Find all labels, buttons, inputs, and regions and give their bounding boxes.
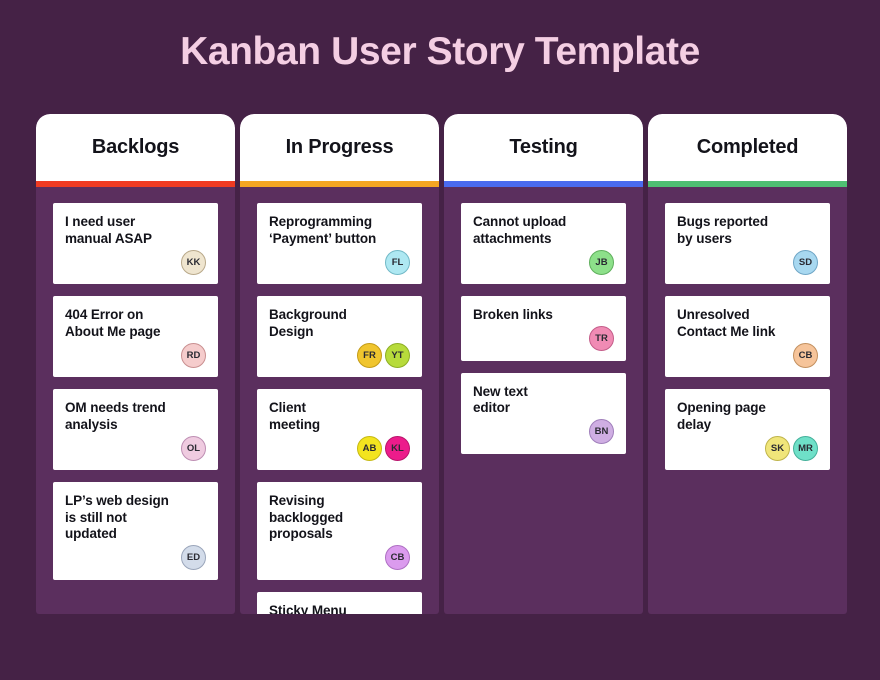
avatar[interactable]: FL — [385, 250, 410, 275]
task-card-assignees: RD — [65, 342, 206, 368]
column-title: In Progress — [286, 136, 394, 159]
task-card[interactable]: Cannot upload attachmentsJB — [461, 203, 626, 284]
kanban-column-backlogs: BacklogsI need user manual ASAPKK404 Err… — [36, 114, 235, 614]
task-card[interactable]: Background DesignFRYT — [257, 296, 422, 377]
task-card[interactable]: 404 Error on About Me pageRD — [53, 296, 218, 377]
task-card[interactable]: Opening page delaySKMR — [665, 389, 830, 470]
column-title: Completed — [697, 136, 799, 159]
avatar[interactable]: YT — [385, 343, 410, 368]
task-card-assignees: KK — [65, 249, 206, 275]
task-card-assignees: SD — [677, 249, 818, 275]
avatar[interactable]: MR — [793, 436, 818, 461]
column-header-completed[interactable]: Completed — [648, 114, 847, 181]
task-card-title: OM needs trend analysis — [65, 400, 206, 433]
avatar[interactable]: SK — [765, 436, 790, 461]
task-card-assignees: FL — [269, 249, 410, 275]
avatar[interactable]: ED — [181, 545, 206, 570]
task-card-title: Cannot upload attachments — [473, 214, 614, 247]
task-card-title: 404 Error on About Me page — [65, 307, 206, 340]
task-card[interactable]: Sticky Menu buttonPW — [257, 592, 422, 615]
task-card-assignees: CB — [677, 342, 818, 368]
task-card-assignees: OL — [65, 435, 206, 461]
task-card-title: Reprogramming ‘Payment’ button — [269, 214, 410, 247]
task-card[interactable]: Unresolved Contact Me linkCB — [665, 296, 830, 377]
task-card[interactable]: New text editorBN — [461, 373, 626, 454]
task-card-assignees: ABKL — [269, 435, 410, 461]
avatar[interactable]: FR — [357, 343, 382, 368]
task-card-assignees: FRYT — [269, 342, 410, 368]
task-card-title: Broken links — [473, 307, 614, 324]
avatar[interactable]: OL — [181, 436, 206, 461]
kanban-board: BacklogsI need user manual ASAPKK404 Err… — [36, 114, 848, 614]
task-card-title: LP’s web design is still not updated — [65, 493, 206, 543]
task-card-assignees: JB — [473, 249, 614, 275]
avatar[interactable]: CB — [385, 545, 410, 570]
task-card-title: Unresolved Contact Me link — [677, 307, 818, 340]
task-card-title: New text editor — [473, 384, 614, 417]
avatar[interactable]: TR — [589, 326, 614, 351]
task-card[interactable]: LP’s web design is still not updatedED — [53, 482, 218, 580]
column-title: Testing — [509, 136, 577, 159]
column-card-list-backlogs: I need user manual ASAPKK404 Error on Ab… — [36, 187, 235, 614]
task-card-assignees: CB — [269, 545, 410, 571]
task-card[interactable]: I need user manual ASAPKK — [53, 203, 218, 284]
task-card-title: I need user manual ASAP — [65, 214, 206, 247]
avatar[interactable]: RD — [181, 343, 206, 368]
task-card[interactable]: Bugs reported by usersSD — [665, 203, 830, 284]
task-card-title: Background Design — [269, 307, 410, 340]
avatar[interactable]: BN — [589, 419, 614, 444]
column-card-list-in-progress: Reprogramming ‘Payment’ buttonFLBackgrou… — [240, 187, 439, 614]
task-card-assignees: TR — [473, 326, 614, 352]
kanban-column-completed: CompletedBugs reported by usersSDUnresol… — [648, 114, 847, 614]
task-card[interactable]: Broken linksTR — [461, 296, 626, 361]
task-card[interactable]: OM needs trend analysisOL — [53, 389, 218, 470]
column-header-testing[interactable]: Testing — [444, 114, 643, 181]
avatar[interactable]: KK — [181, 250, 206, 275]
task-card-assignees: ED — [65, 545, 206, 571]
avatar[interactable]: JB — [589, 250, 614, 275]
task-card[interactable]: Reprogramming ‘Payment’ buttonFL — [257, 203, 422, 284]
column-card-list-completed: Bugs reported by usersSDUnresolved Conta… — [648, 187, 847, 614]
task-card-title: Revising backlogged proposals — [269, 493, 410, 543]
avatar[interactable]: CB — [793, 343, 818, 368]
column-header-in-progress[interactable]: In Progress — [240, 114, 439, 181]
avatar[interactable]: SD — [793, 250, 818, 275]
task-card[interactable]: Client meetingABKL — [257, 389, 422, 470]
task-card-title: Bugs reported by users — [677, 214, 818, 247]
task-card-title: Sticky Menu button — [269, 603, 410, 615]
avatar[interactable]: AB — [357, 436, 382, 461]
task-card-title: Client meeting — [269, 400, 410, 433]
task-card-title: Opening page delay — [677, 400, 818, 433]
column-header-backlogs[interactable]: Backlogs — [36, 114, 235, 181]
task-card[interactable]: Revising backlogged proposalsCB — [257, 482, 422, 580]
avatar[interactable]: KL — [385, 436, 410, 461]
kanban-column-in-progress: In ProgressReprogramming ‘Payment’ butto… — [240, 114, 439, 614]
task-card-assignees: BN — [473, 419, 614, 445]
column-card-list-testing: Cannot upload attachmentsJBBroken linksT… — [444, 187, 643, 614]
kanban-column-testing: TestingCannot upload attachmentsJBBroken… — [444, 114, 643, 614]
task-card-assignees: SKMR — [677, 435, 818, 461]
page-title: Kanban User Story Template — [0, 30, 880, 74]
column-title: Backlogs — [92, 136, 179, 159]
